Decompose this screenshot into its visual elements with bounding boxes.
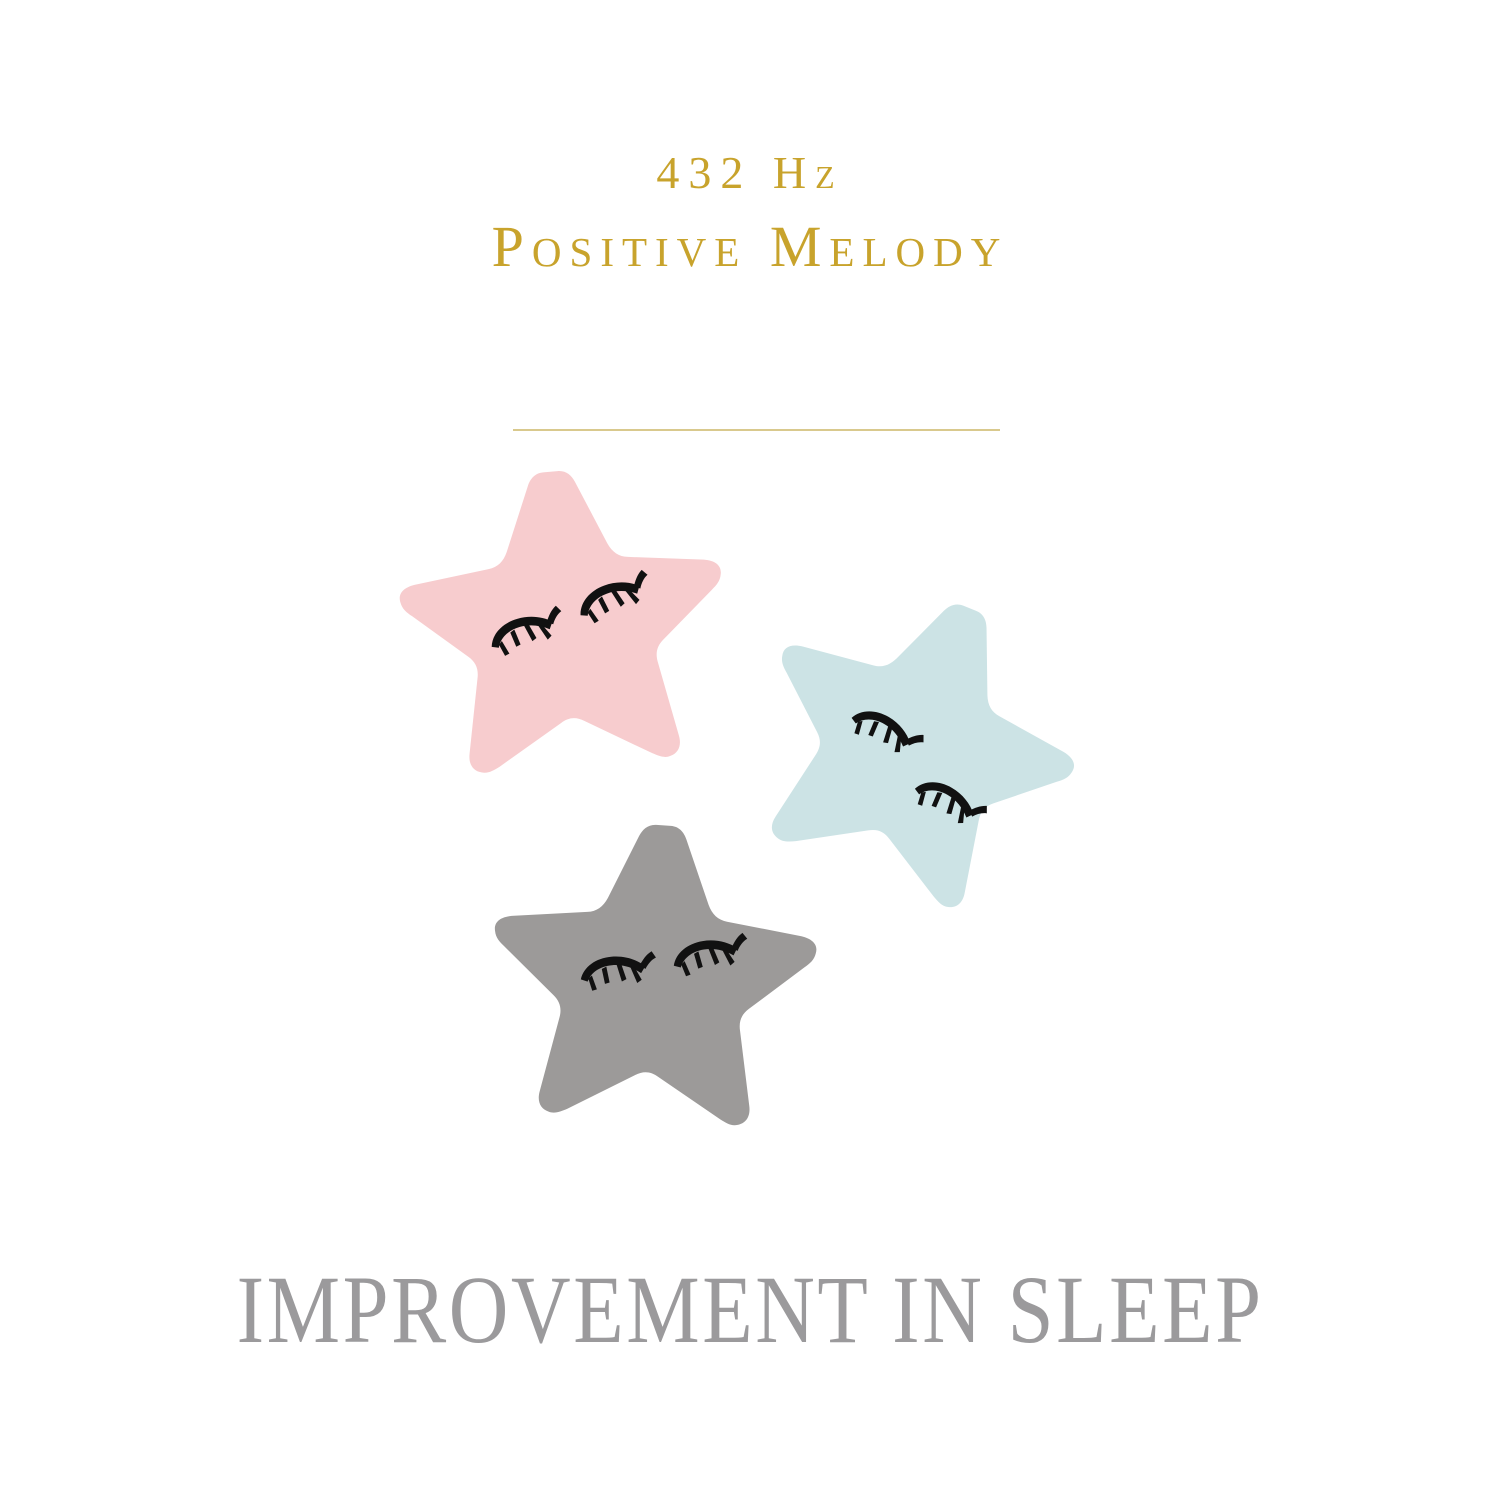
stars-svg: [370, 420, 1140, 1190]
footer-block: IMPROVEMENT IN SLEEP: [0, 1262, 1500, 1358]
page-title: Positive Melody: [0, 218, 1500, 276]
blue-star: [718, 550, 1115, 932]
gray-star-body: [482, 814, 824, 1130]
header-block: 432 Hz Positive Melody: [0, 150, 1500, 276]
pink-star: [390, 458, 737, 779]
footer-caption: IMPROVEMENT IN SLEEP: [236, 1262, 1263, 1358]
pink-star-body: [390, 458, 737, 779]
star-illustration: [370, 420, 1140, 1190]
poster-canvas: 432 Hz Positive Melody: [0, 0, 1500, 1500]
frequency-title: 432 Hz: [0, 150, 1500, 196]
gray-star: [482, 814, 824, 1130]
